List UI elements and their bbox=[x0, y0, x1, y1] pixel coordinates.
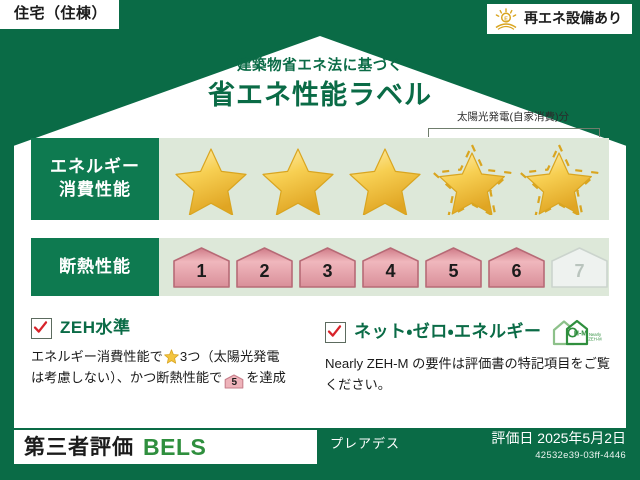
insulation-grade-group: 1 2 3 4 bbox=[159, 238, 609, 296]
insulation-label: 断熱性能 bbox=[59, 256, 131, 279]
zeh-checkbox[interactable] bbox=[31, 318, 52, 339]
grade-chip: 4 bbox=[360, 245, 421, 289]
grade-chip: 3 bbox=[297, 245, 358, 289]
zeh-m-logo-sub2: ZEH-M bbox=[588, 337, 602, 342]
inline-star-icon bbox=[164, 349, 179, 364]
zeh-criterion-title: ZEH水準 bbox=[60, 319, 131, 338]
check-icon bbox=[327, 324, 342, 339]
grade-chip: 2 bbox=[234, 245, 295, 289]
zeh-m-logo-icon: H-M Nearly ZEH-M bbox=[550, 318, 606, 346]
grade-chip-value: 4 bbox=[385, 261, 395, 289]
grade-chip-value: 3 bbox=[322, 261, 332, 289]
energy-row-label: エネルギー 消費性能 bbox=[31, 138, 159, 220]
zeh-criterion-header: ZEH水準 bbox=[31, 318, 319, 339]
star-filled bbox=[343, 143, 427, 215]
zeh-stars-count: 3つ（太陽光発電 bbox=[180, 349, 280, 364]
insulation-grade-panel: 1 2 3 4 bbox=[159, 238, 609, 296]
insulation-row-label: 断熱性能 bbox=[31, 238, 159, 296]
check-icon bbox=[33, 320, 48, 335]
star-solar bbox=[517, 143, 601, 215]
evaluation-date: 評価日 2025年5月2日 bbox=[491, 430, 626, 447]
nze-criterion-block: ネット・ゼロ・エネルギー H-M Nearly ZEH-M Nearly ZEH… bbox=[325, 318, 615, 396]
grade-chip: 1 bbox=[171, 245, 232, 289]
insulation-performance-row: 断熱性能 1 bbox=[31, 238, 609, 296]
grade-chip-value: 7 bbox=[574, 261, 584, 289]
energy-star-panel: 太陽光発電(自家消費)分 bbox=[159, 138, 609, 220]
footer-evaluation-meta: 評価日 2025年5月2日 42532e39-03ff-4446 bbox=[491, 430, 626, 461]
grade-chip-value: 6 bbox=[511, 261, 521, 289]
title-main: 省エネ性能ラベル bbox=[0, 79, 640, 113]
star-solar bbox=[430, 143, 514, 215]
star-filled bbox=[169, 143, 253, 215]
grade-chip-value: 5 bbox=[448, 261, 458, 289]
energy-performance-row: エネルギー 消費性能 太陽光発電(自家消費)分 bbox=[31, 138, 609, 220]
bels-label: BELS bbox=[143, 436, 206, 459]
zeh-criterion-text: エネルギー消費性能で 3つ（太陽光発電 は考慮しない）、かつ断熱性能で 5 を達… bbox=[31, 346, 319, 389]
sun-icon: E bbox=[493, 8, 519, 30]
nze-criterion-text: Nearly ZEH-M の要件は評価書の特記項目をご覧ください。 bbox=[325, 353, 615, 396]
grade-chip: 6 bbox=[486, 245, 547, 289]
zeh-text-c: を達成 bbox=[246, 370, 286, 385]
grade-chip-inactive: 7 bbox=[549, 245, 610, 289]
inline-grade-value: 5 bbox=[224, 374, 244, 391]
svg-text:E: E bbox=[504, 16, 508, 22]
zeh-text-a: エネルギー消費性能で bbox=[31, 349, 163, 364]
solar-note-label: 太陽光発電(自家消費)分 bbox=[425, 112, 601, 124]
energy-performance-label: 住宅（住棟） E 再エネ設備あり 建築物省エネ法に基づく 省エネ性能ラベ bbox=[0, 0, 640, 480]
energy-label-line1: エネルギー bbox=[50, 156, 140, 179]
energy-label-line2: 消費性能 bbox=[59, 179, 131, 202]
renewable-badge-label: 再エネ設備あり bbox=[524, 11, 622, 26]
building-type-tag: 住宅（住棟） bbox=[0, 0, 119, 29]
renewable-equipment-badge: E 再エネ設備あり bbox=[487, 4, 632, 34]
nze-criterion-title: ネット・ゼロ・エネルギー bbox=[354, 323, 542, 342]
footer-evaluation-plate: 第三者評価 BELS bbox=[14, 430, 317, 464]
nze-checkbox[interactable] bbox=[325, 322, 346, 343]
svg-text:H-M: H-M bbox=[573, 331, 586, 338]
title-subtitle: 建築物省エネ法に基づく bbox=[0, 58, 640, 75]
building-type-label: 住宅（住棟） bbox=[14, 5, 107, 22]
inline-grade-chip: 5 bbox=[224, 374, 244, 389]
zeh-criterion-block: ZEH水準 エネルギー消費性能で 3つ（太陽光発電 は考慮しない）、かつ断熱性能… bbox=[31, 318, 319, 389]
grade-chip-value: 1 bbox=[196, 261, 206, 289]
label-title-block: 建築物省エネ法に基づく 省エネ性能ラベル bbox=[0, 58, 640, 113]
nze-criterion-header: ネット・ゼロ・エネルギー H-M Nearly ZEH-M bbox=[325, 318, 615, 346]
evaluation-id: 42532e39-03ff-4446 bbox=[491, 450, 626, 461]
grade-chip-value: 2 bbox=[259, 261, 269, 289]
star-rating-group bbox=[159, 138, 609, 220]
third-party-label: 第三者評価 bbox=[24, 437, 134, 458]
zeh-text-b: は考慮しない）、かつ断熱性能で bbox=[31, 370, 222, 385]
star-filled bbox=[256, 143, 340, 215]
grade-chip: 5 bbox=[423, 245, 484, 289]
owner-name: プレアデス bbox=[330, 437, 400, 450]
solar-bracket bbox=[428, 128, 600, 137]
